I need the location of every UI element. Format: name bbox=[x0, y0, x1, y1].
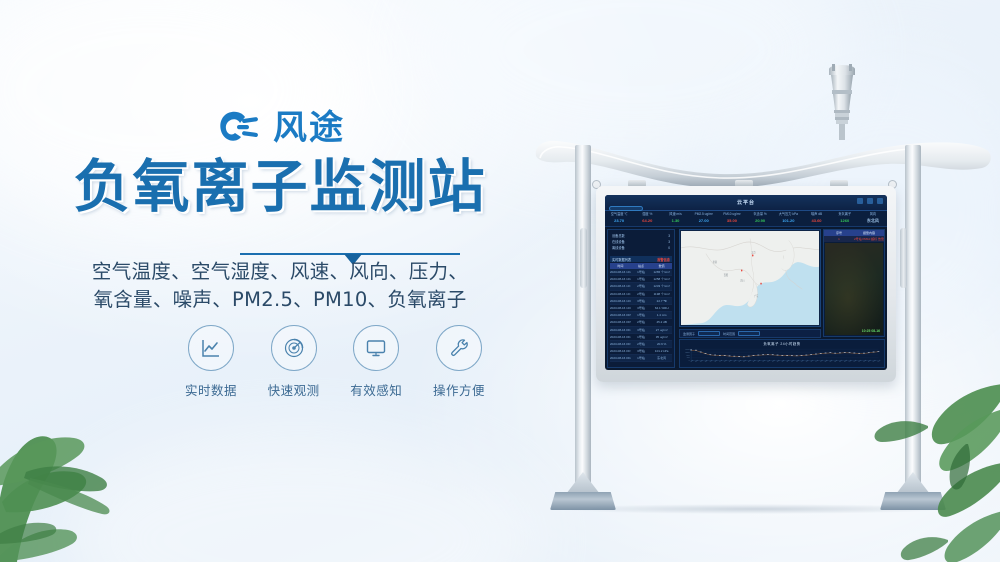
table-cell: 1号站 bbox=[631, 356, 652, 360]
table-cell: 2023-08-16 10:25:00 bbox=[610, 270, 631, 274]
table-cell: 20.9 % bbox=[651, 342, 672, 346]
table-cell: 2023-08-16 09:35:00 bbox=[610, 342, 631, 346]
table-row[interactable]: 2023-08-16 10:05:003号站22.7 ℃ bbox=[610, 298, 672, 305]
table-cell: 1.4 m/s bbox=[651, 313, 672, 317]
feature-list: 实时数据 快速观测 bbox=[180, 325, 490, 399]
feature-label: 快速观测 bbox=[263, 380, 325, 399]
feature-icon-circle bbox=[436, 325, 482, 371]
table-cell: 35 ug/m³ bbox=[651, 335, 672, 339]
table-cell: 2023-08-16 09:55:00 bbox=[610, 313, 631, 317]
feature-item-easy-operation: 操作方便 bbox=[428, 325, 490, 399]
kpi-item: 空气温度 ℃ 23.70 bbox=[605, 211, 633, 226]
svg-text:23:55: 23:55 bbox=[820, 360, 825, 362]
table-cell: 45.2 dB bbox=[651, 320, 672, 324]
table-cell: 1号站 bbox=[631, 277, 652, 281]
alert-index: 1 bbox=[824, 237, 854, 241]
kpi-item: 负氧离子 1260 bbox=[831, 211, 859, 226]
line-chart-icon bbox=[199, 336, 223, 360]
table-cell: 3号站 bbox=[631, 349, 652, 353]
time-range-select[interactable] bbox=[738, 331, 760, 336]
table-cell: 1258 个/cm³ bbox=[651, 277, 672, 281]
alert-text: 2号站 PM10 超标 告警 bbox=[854, 237, 884, 241]
monitor-icon bbox=[364, 336, 388, 360]
table-row[interactable]: 2023-08-16 09:55:001号站1.4 m/s bbox=[610, 312, 672, 319]
svg-text:21:25: 21:25 bbox=[796, 360, 801, 362]
table-row[interactable]: 2023-08-16 10:25:001号站1265 个/cm³ bbox=[610, 269, 672, 276]
table-cell: 2023-08-16 09:50:00 bbox=[610, 320, 631, 324]
table-cell: 1号站 bbox=[631, 335, 652, 339]
brand-logo: 风途 bbox=[0, 108, 560, 148]
subtitle-line-2: 氧含量、噪声、PM2.5、PM10、负氧离子 bbox=[0, 286, 560, 314]
table-cell: 1198 个/cm³ bbox=[651, 292, 672, 296]
table-body: 2023-08-16 10:25:001号站1265 个/cm³2023-08-… bbox=[610, 269, 672, 362]
svg-text:22:55: 22:55 bbox=[810, 360, 815, 362]
table-cell: 2023-08-16 10:10:00 bbox=[610, 292, 631, 296]
kpi-value: 1.30 bbox=[661, 217, 689, 224]
map-panel[interactable]: 北京 新疆 西藏 四川 广东 bbox=[679, 229, 821, 327]
video-timestamp: 10:25 08-16 bbox=[862, 329, 880, 333]
table-row[interactable]: 2023-08-16 09:35:002号站20.9 % bbox=[610, 341, 672, 348]
svg-text:400: 400 bbox=[686, 358, 689, 359]
table-cell: 2023-08-16 10:05:00 bbox=[610, 299, 631, 303]
table-cell: 2号站 bbox=[631, 284, 652, 288]
kpi-value: 27.00 bbox=[690, 217, 718, 224]
svg-text:10:55: 10:55 bbox=[695, 360, 700, 362]
device-stats-list: 设备总数 3 在线设备 3 离线设备 0 bbox=[608, 230, 674, 254]
device-stats-panel: 设备总数 3 在线设备 3 离线设备 0 bbox=[607, 229, 675, 368]
page-title: 负氧离子监测站 bbox=[0, 158, 560, 218]
table-cell: 2号站 bbox=[631, 342, 652, 346]
table-row[interactable]: 2023-08-16 09:40:001号站35 ug/m³ bbox=[610, 334, 672, 341]
svg-text:16:55: 16:55 bbox=[752, 360, 757, 362]
svg-text:800: 800 bbox=[686, 355, 689, 356]
kpi-item: PM2.5 ug/m³ 27.00 bbox=[690, 211, 718, 226]
table-row[interactable]: 2023-08-16 10:00:003号站64.1 %RH bbox=[610, 305, 672, 312]
table-cell: 2023-08-16 10:20:00 bbox=[610, 277, 631, 281]
table-cell: 3号站 bbox=[631, 306, 652, 310]
kpi-value: 东北风 bbox=[859, 217, 887, 224]
svg-text:四川: 四川 bbox=[740, 279, 745, 282]
subtitle: 空气温度、空气湿度、风速、风向、压力、 氧含量、噪声、PM2.5、PM10、负氧… bbox=[0, 258, 560, 314]
svg-text:15:55: 15:55 bbox=[743, 360, 748, 362]
svg-text:新疆: 新疆 bbox=[713, 260, 718, 265]
support-pole-left bbox=[575, 145, 591, 505]
feature-label: 有效感知 bbox=[345, 380, 407, 399]
table-row[interactable]: 2023-08-16 10:10:002号站1198 个/cm³ bbox=[610, 291, 672, 298]
brand-name: 风途 bbox=[273, 111, 345, 145]
control-label: 监测因子 bbox=[683, 332, 695, 336]
kpi-item: PM10 ug/m³ 35.00 bbox=[718, 211, 746, 226]
table-row[interactable]: 2023-08-16 09:50:002号站45.2 dB bbox=[610, 319, 672, 326]
svg-text:西藏: 西藏 bbox=[724, 273, 729, 278]
svg-text:12:25: 12:25 bbox=[709, 360, 714, 362]
realtime-list-header: 实时数据列表 报警信息 bbox=[610, 256, 672, 262]
kpi-item: 湿度 % 64.20 bbox=[633, 211, 661, 226]
table-cell: 27 ug/m³ bbox=[651, 328, 672, 332]
kpi-row: 空气温度 ℃ 23.70 湿度 % 64.20 风速 m/s 1.30 PM bbox=[605, 211, 887, 227]
decorative-leaves-right bbox=[828, 344, 1000, 562]
svg-text:12:55: 12:55 bbox=[714, 360, 719, 362]
table-cell: 2023-08-16 10:15:00 bbox=[610, 284, 631, 288]
table-cell: 1233 个/cm³ bbox=[651, 284, 672, 288]
table-row[interactable]: 2023-08-16 09:45:003号站27 ug/m³ bbox=[610, 327, 672, 334]
feature-icon-circle bbox=[271, 325, 317, 371]
svg-text:17:55: 17:55 bbox=[762, 360, 767, 362]
alert-badge[interactable]: 报警信息 bbox=[657, 257, 670, 262]
feature-icon-circle bbox=[353, 325, 399, 371]
table-cell: 1265 个/cm³ bbox=[651, 270, 672, 274]
alert-row[interactable]: 1 2号站 PM10 超标 告警 bbox=[824, 236, 884, 242]
column-header: 时间 bbox=[610, 264, 631, 268]
alert-panel: 序号 报警内容 1 2号站 PM10 超标 告警 10:25 08-16 bbox=[823, 229, 885, 337]
dashboard-header-icons[interactable] bbox=[857, 198, 883, 204]
column-header: 报警内容 bbox=[854, 231, 884, 235]
feature-item-fast-observation: 快速观测 bbox=[263, 325, 325, 399]
table-cell: 3号站 bbox=[631, 299, 652, 303]
table-cell: 2号站 bbox=[631, 292, 652, 296]
table-cell: 101.2 kPa bbox=[651, 349, 672, 353]
svg-text:19:25: 19:25 bbox=[776, 360, 781, 362]
bell-icon[interactable] bbox=[867, 198, 873, 204]
svg-text:23:25: 23:25 bbox=[815, 360, 820, 362]
table-row[interactable]: 2023-08-16 09:25:001号站东北风 bbox=[610, 355, 672, 362]
realtime-list-title: 实时数据列表 bbox=[612, 257, 631, 262]
svg-text:11:25: 11:25 bbox=[700, 360, 705, 362]
table-cell: 1号站 bbox=[631, 313, 652, 317]
kpi-item: 噪声 dB 43.60 bbox=[802, 211, 830, 226]
svg-text:17:25: 17:25 bbox=[757, 360, 762, 362]
table-cell: 64.1 %RH bbox=[651, 306, 672, 310]
stat-label: 离线设备 bbox=[612, 245, 625, 251]
svg-text:16:25: 16:25 bbox=[748, 360, 753, 362]
svg-text:14:25: 14:25 bbox=[728, 360, 733, 362]
kpi-item: 氧含量 % 20.90 bbox=[746, 211, 774, 226]
table-cell: 2023-08-16 10:00:00 bbox=[610, 306, 631, 310]
control-label: 时间范围 bbox=[723, 332, 735, 336]
svg-text:1200: 1200 bbox=[685, 352, 690, 353]
feature-item-effective-sensing: 有效感知 bbox=[345, 325, 407, 399]
table-row[interactable]: 2023-08-16 10:20:001号站1258 个/cm³ bbox=[610, 276, 672, 283]
svg-text:18:55: 18:55 bbox=[772, 360, 777, 362]
table-cell: 2023-08-16 09:45:00 bbox=[610, 328, 631, 332]
column-header: 数值 bbox=[651, 264, 672, 268]
table-cell: 3号站 bbox=[631, 328, 652, 332]
grid-icon[interactable] bbox=[857, 198, 863, 204]
stat-value: 0 bbox=[668, 245, 670, 251]
realtime-data-table: 时间 站点 数值 2023-08-16 10:25:001号站1265 个/cm… bbox=[610, 263, 672, 362]
table-cell: 2023-08-16 09:30:00 bbox=[610, 349, 631, 353]
pole-gusset bbox=[566, 472, 600, 494]
subtitle-line-1: 空气温度、空气湿度、风速、风向、压力、 bbox=[0, 258, 560, 286]
svg-text:1600: 1600 bbox=[685, 349, 690, 350]
svg-text:13:55: 13:55 bbox=[724, 360, 729, 362]
kpi-value: 20.90 bbox=[746, 217, 774, 224]
svg-text:14:55: 14:55 bbox=[733, 360, 738, 362]
table-cell: 2023-08-16 09:25:00 bbox=[610, 356, 631, 360]
table-cell: 2号站 bbox=[631, 320, 652, 324]
kpi-value: 101.20 bbox=[774, 217, 802, 224]
svg-text:20:25: 20:25 bbox=[786, 360, 791, 362]
map-graphic: 北京 新疆 西藏 四川 广东 bbox=[681, 231, 819, 325]
kpi-value: 64.20 bbox=[633, 217, 661, 224]
factor-select[interactable] bbox=[698, 331, 720, 336]
screen-side-arm bbox=[900, 228, 907, 288]
kpi-value: 43.60 bbox=[802, 217, 830, 224]
table-row[interactable]: 2023-08-16 10:15:002号站1233 个/cm³ bbox=[610, 283, 672, 290]
decorative-leaves-left bbox=[0, 342, 200, 562]
table-cell: 东北风 bbox=[651, 356, 672, 360]
dashboard-header: 云平台 bbox=[605, 195, 887, 211]
dashboard-title: 云平台 bbox=[605, 199, 887, 206]
svg-text:21:55: 21:55 bbox=[800, 360, 805, 362]
svg-text:13:25: 13:25 bbox=[719, 360, 724, 362]
svg-text:18:25: 18:25 bbox=[767, 360, 772, 362]
table-cell: 22.7 ℃ bbox=[651, 299, 672, 303]
feature-label: 操作方便 bbox=[428, 380, 490, 399]
ultrasonic-weather-sensor-icon bbox=[820, 60, 864, 140]
wind-g-logo-icon bbox=[215, 108, 263, 148]
stat-row: 离线设备 0 bbox=[612, 245, 670, 251]
kpi-value: 1260 bbox=[831, 217, 859, 224]
svg-text:广东: 广东 bbox=[754, 293, 759, 298]
kpi-value: 23.70 bbox=[605, 217, 633, 224]
banner-stage: 风途 负氧离子监测站 空气温度、空气湿度、风速、风向、压力、 氧含量、噪声、PM… bbox=[0, 0, 1000, 562]
table-row[interactable]: 2023-08-16 09:30:003号站101.2 kPa bbox=[610, 348, 672, 355]
camera-feed[interactable]: 10:25 08-16 bbox=[825, 243, 883, 335]
svg-text:北京: 北京 bbox=[751, 250, 756, 255]
svg-text:11:55: 11:55 bbox=[704, 360, 709, 362]
column-header: 序号 bbox=[824, 231, 854, 235]
svg-text:20:55: 20:55 bbox=[791, 360, 796, 362]
svg-text:22:25: 22:25 bbox=[805, 360, 810, 362]
table-cell: 2023-08-16 09:40:00 bbox=[610, 335, 631, 339]
wrench-icon bbox=[447, 336, 471, 360]
svg-text:15:25: 15:25 bbox=[738, 360, 743, 362]
china-map[interactable]: 北京 新疆 西藏 四川 广东 bbox=[681, 231, 819, 325]
svg-text:19:55: 19:55 bbox=[781, 360, 786, 362]
radar-scan-icon bbox=[282, 336, 306, 360]
svg-text:10:25: 10:25 bbox=[690, 360, 695, 362]
kpi-value: 35.00 bbox=[718, 217, 746, 224]
svg-text:0: 0 bbox=[689, 361, 690, 362]
map-controls[interactable]: 监测因子 时间范围 bbox=[679, 329, 821, 338]
screen-side-arm bbox=[580, 228, 587, 288]
kpi-item: 风速 m/s 1.30 bbox=[661, 211, 689, 226]
kpi-item: 大气压力 kPa 101.20 bbox=[774, 211, 802, 226]
kpi-item: 风向 东北风 bbox=[859, 211, 887, 226]
column-header: 站点 bbox=[631, 264, 652, 268]
table-cell: 1号站 bbox=[631, 270, 652, 274]
user-icon[interactable] bbox=[877, 198, 883, 204]
